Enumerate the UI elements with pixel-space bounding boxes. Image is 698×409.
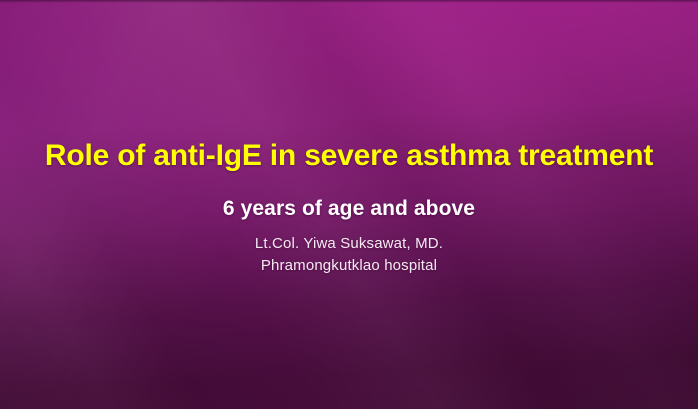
presenter-name: Lt.Col. Yiwa Suksawat, MD.	[0, 235, 698, 253]
slide-title: Role of anti-IgE in severe asthma treatm…	[0, 139, 698, 172]
slide-subtitle: 6 years of age and above	[0, 197, 698, 221]
title-slide: Role of anti-IgE in severe asthma treatm…	[0, 0, 698, 409]
presenter-affiliation: Phramongkutklao hospital	[0, 257, 698, 275]
slide-content: Role of anti-IgE in severe asthma treatm…	[0, 0, 698, 409]
